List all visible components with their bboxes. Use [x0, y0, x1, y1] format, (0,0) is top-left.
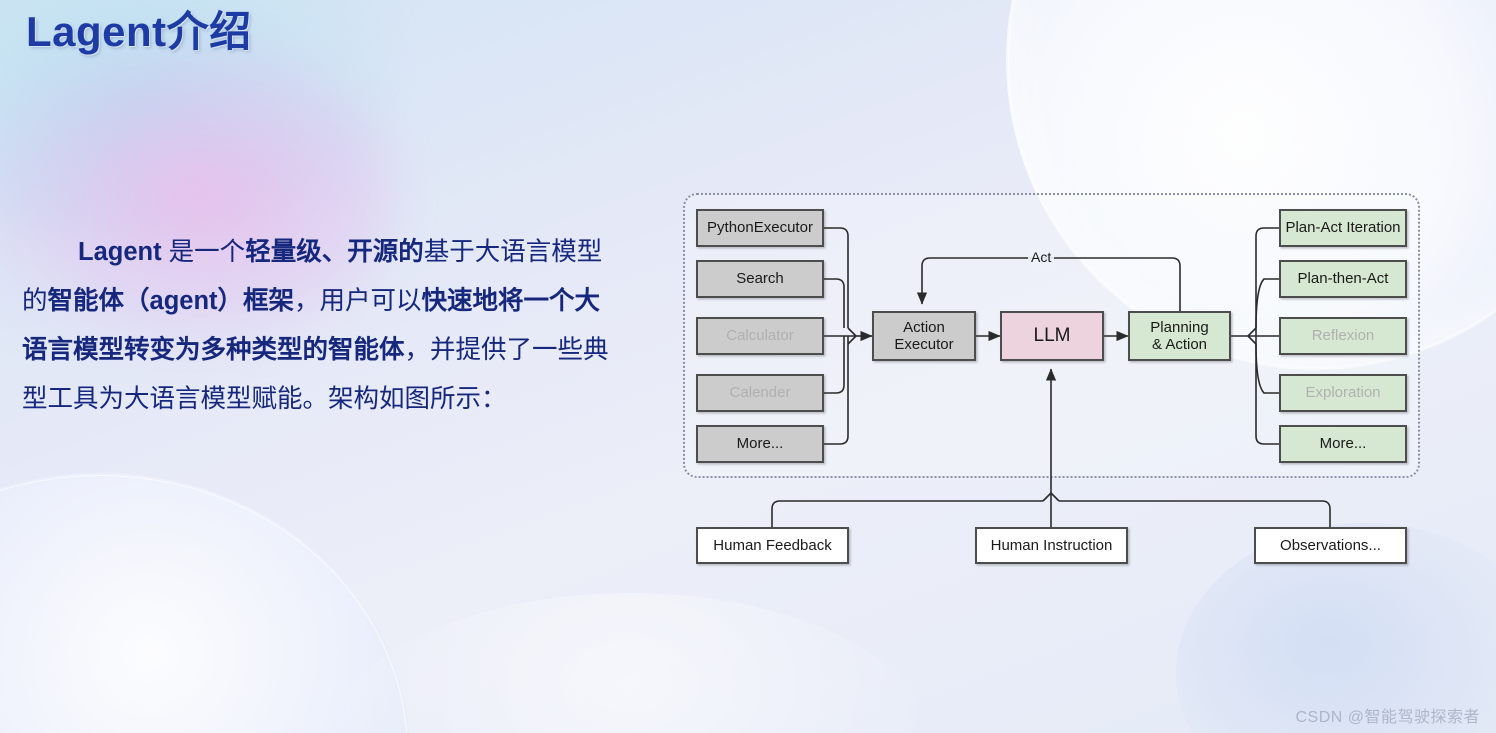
strategy-node-exploration[interactable]: Exploration	[1279, 374, 1407, 412]
core-node-label: Action Executor	[894, 319, 953, 354]
tool-node-more[interactable]: More...	[696, 425, 824, 463]
io-node-label: Human Instruction	[991, 537, 1113, 554]
strategy-node-reflexion[interactable]: Reflexion	[1279, 317, 1407, 355]
strategy-label: Exploration	[1305, 384, 1380, 401]
core-node-label: LLM	[1034, 325, 1071, 347]
strategy-label: Reflexion	[1312, 327, 1375, 344]
tool-node-pythonexecutor[interactable]: PythonExecutor	[696, 209, 824, 247]
tool-node-calender[interactable]: Calender	[696, 374, 824, 412]
diagram-connectors	[0, 0, 1496, 733]
io-node-observations[interactable]: Observations...	[1254, 527, 1407, 564]
tool-label: Calender	[730, 384, 791, 401]
tool-label: Search	[736, 270, 784, 287]
architecture-diagram: Agent	[0, 0, 1496, 733]
tool-node-search[interactable]: Search	[696, 260, 824, 298]
io-node-label: Observations...	[1280, 537, 1381, 554]
strategy-label: Plan-Act Iteration	[1285, 219, 1400, 236]
tool-label: More...	[737, 435, 784, 452]
core-node-llm[interactable]: LLM	[1000, 311, 1104, 361]
strategy-label: More...	[1320, 435, 1367, 452]
io-node-label: Human Feedback	[713, 537, 831, 554]
loop-edge-label: Act	[1028, 249, 1054, 265]
strategy-node-plan-then-act[interactable]: Plan-then-Act	[1279, 260, 1407, 298]
io-node-human-feedback[interactable]: Human Feedback	[696, 527, 849, 564]
tool-node-calculator[interactable]: Calculator	[696, 317, 824, 355]
strategy-label: Plan-then-Act	[1298, 270, 1389, 287]
io-node-human-instruction[interactable]: Human Instruction	[975, 527, 1128, 564]
strategy-node-more[interactable]: More...	[1279, 425, 1407, 463]
core-node-planning-action[interactable]: Planning & Action	[1128, 311, 1231, 361]
core-node-label: Planning & Action	[1150, 319, 1208, 354]
tool-label: PythonExecutor	[707, 219, 813, 236]
strategy-node-plan-act-iteration[interactable]: Plan-Act Iteration	[1279, 209, 1407, 247]
core-node-action-executor[interactable]: Action Executor	[872, 311, 976, 361]
tool-label: Calculator	[726, 327, 794, 344]
csdn-watermark: CSDN @智能驾驶探索者	[1295, 703, 1480, 727]
